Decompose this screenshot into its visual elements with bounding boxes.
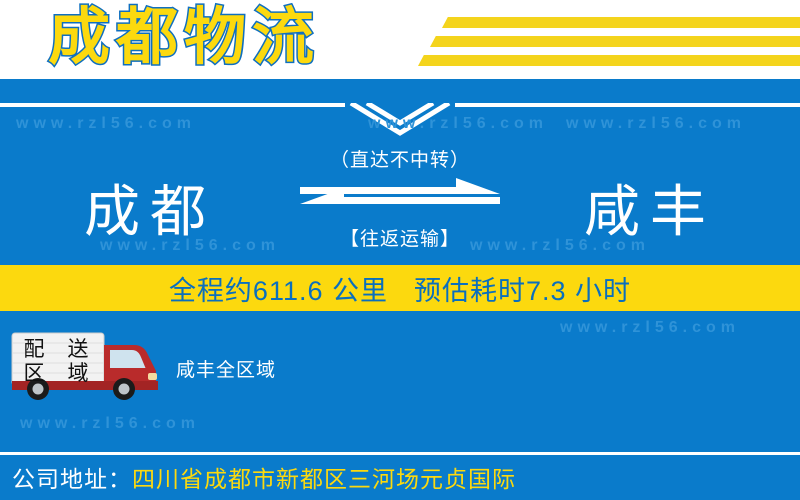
watermark: www.rzl56.com <box>566 115 746 133</box>
route-note-top: （直达不中转） <box>290 145 510 172</box>
watermark: www.rzl56.com <box>368 115 548 133</box>
distance-value: 全程约611.6 公里 <box>169 276 388 306</box>
watermark: www.rzl56.com <box>470 237 650 255</box>
logistics-poster: 成都物流 www.rzl56.com www.rzl56.com www.rzl… <box>0 0 800 500</box>
main-body: www.rzl56.com www.rzl56.com www.rzl56.co… <box>0 79 800 500</box>
stripe-2 <box>430 36 800 47</box>
footer-address-value: 四川省成都市新都区三河场元贞国际 <box>132 466 516 492</box>
watermark: www.rzl56.com <box>100 237 280 255</box>
truck-box-char-4: 域 <box>68 362 89 385</box>
watermark: www.rzl56.com <box>20 415 200 433</box>
truck-box-char-2: 送 <box>68 338 89 361</box>
delivery-truck-icon: 配 送 区 域 <box>8 329 163 401</box>
delivery-area-row: 配 送 区 域 咸丰全区域 <box>8 329 508 409</box>
watermark: www.rzl56.com <box>16 115 196 133</box>
trip-info-text: 全程约611.6 公里预估耗时7.3 小时 <box>169 269 631 308</box>
route-middle: （直达不中转） 【往返运输】 <box>290 145 510 251</box>
coverage-label: 咸丰全区域 <box>176 355 276 382</box>
duration-value: 预估耗时7.3 小时 <box>414 276 631 306</box>
divider-bottom <box>0 452 800 455</box>
stripe-1 <box>442 17 800 28</box>
watermark: www.rzl56.com <box>560 319 740 337</box>
page-title: 成都物流 <box>48 2 320 74</box>
truck-box-char-3: 区 <box>24 362 45 385</box>
truck-box-char-1: 配 <box>24 338 45 361</box>
trip-info-band: 全程约611.6 公里预估耗时7.3 小时 <box>0 265 800 311</box>
footer-address: 公司地址：四川省成都市新都区三河场元贞国际 <box>12 463 516 495</box>
double-arrow-icon <box>300 178 500 220</box>
stripe-3 <box>418 55 800 66</box>
decorative-stripes <box>410 14 800 72</box>
header-band: 成都物流 <box>0 0 800 79</box>
footer-address-label: 公司地址： <box>12 466 132 492</box>
